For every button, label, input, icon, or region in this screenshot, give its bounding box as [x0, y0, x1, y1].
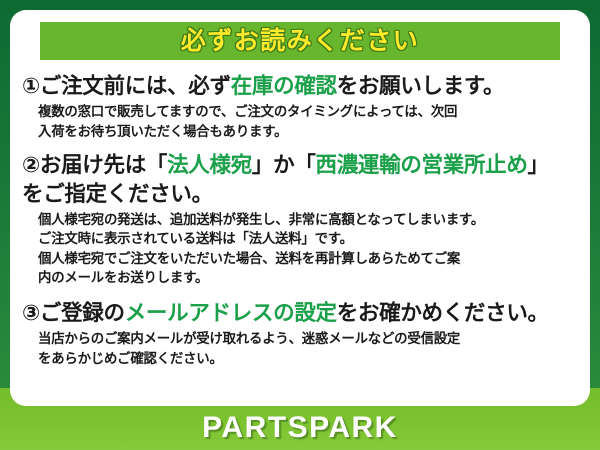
- notice-item-1-subline-0: 複数の窓口で販売してますので、ご注文のタイミングによっては、次回: [38, 102, 578, 121]
- notice-item-2-heading-highlight-2: 西濃運輸の営業所止め: [316, 153, 528, 177]
- notice-item-1-subline-1: 入荷をお待ち頂いただく場合もあります。: [38, 122, 578, 141]
- notice-item-3-subline-0: 当店からのご案内メールが受け取れるよう、迷惑メールなどの受信設定: [38, 329, 578, 348]
- notice-item-1-heading-part-2: をお願いします。: [337, 74, 504, 98]
- page-title: 必ずお読みください: [181, 29, 420, 54]
- notice-item-2-heading-part-0: お届け先は「: [40, 153, 167, 177]
- notice-item-3-heading-highlight: メールアドレスの設定: [125, 301, 337, 325]
- notice-item-1-subtext: 複数の窓口で販売してますので、ご注文のタイミングによっては、次回 入荷をお待ち頂…: [38, 102, 578, 141]
- notice-item-2-subline-2: 個人様宅宛でご注文をいただいた場合、送料を再計算しあらためてご案: [38, 249, 578, 268]
- notice-item-2: ②お届け先は「法人様宛」か「西濃運輸の営業所止め」をご指定ください。 個人様宅宛…: [22, 151, 578, 288]
- notice-item-1: ①ご注文前には、必ず在庫の確認をお願いします。 複数の窓口で販売してますので、ご…: [22, 72, 578, 141]
- notice-item-1-heading-part-0: ご注文前には、必ず: [40, 74, 231, 98]
- brand-logo: PARTSPARK: [202, 411, 398, 445]
- notice-card: 必ずお読みください ①ご注文前には、必ず在庫の確認をお願いします。 複数の窓口で…: [0, 0, 600, 450]
- header-banner: 必ずお読みください: [40, 22, 560, 60]
- notice-item-2-heading-highlight-1: 法人様宛: [167, 153, 252, 177]
- notice-item-2-subtext: 個人様宅宛の発送は、追加送料が発生し、非常に高額となってしまいます。 ご注文時に…: [38, 210, 578, 288]
- notice-item-3-heading: ③ご登録のメールアドレスの設定をお確かめください。: [22, 299, 578, 327]
- notice-item-3-subtext: 当店からのご案内メールが受け取れるよう、迷惑メールなどの受信設定 をあらかじめご…: [38, 329, 578, 368]
- notice-item-3-subline-1: をあらかじめご確認ください。: [38, 349, 578, 368]
- notice-item-1-marker: ①: [22, 74, 40, 98]
- notice-item-2-heading: ②お届け先は「法人様宛」か「西濃運輸の営業所止め」をご指定ください。: [22, 151, 578, 208]
- notice-item-3-marker: ③: [22, 301, 40, 325]
- notice-item-2-subline-3: 内のメールをお送りします。: [38, 268, 578, 287]
- notice-content: ①ご注文前には、必ず在庫の確認をお願いします。 複数の窓口で販売してますので、ご…: [10, 68, 590, 370]
- notice-item-2-subline-0: 個人様宅宛の発送は、追加送料が発生し、非常に高額となってしまいます。: [38, 210, 578, 229]
- notice-item-3-heading-part-0: ご登録の: [40, 301, 125, 325]
- notice-item-1-heading: ①ご注文前には、必ず在庫の確認をお願いします。: [22, 72, 578, 100]
- notice-item-2-marker: ②: [22, 153, 40, 177]
- notice-item-1-heading-highlight: 在庫の確認: [231, 74, 337, 98]
- notice-item-2-heading-part-4: 」: [528, 153, 549, 177]
- notice-item-2-subline-1: ご注文時に表示されている送料は「法人送料」です。: [38, 229, 578, 248]
- notice-item-3-heading-part-2: をお確かめください。: [337, 301, 549, 325]
- white-panel: 必ずお読みください ①ご注文前には、必ず在庫の確認をお願いします。 複数の窓口で…: [10, 10, 590, 406]
- notice-item-3: ③ご登録のメールアドレスの設定をお確かめください。 当店からのご案内メールが受け…: [22, 299, 578, 368]
- footer-logo-area: PARTSPARK: [0, 406, 600, 450]
- notice-item-2-heading-part-5: をご指定ください。: [22, 182, 213, 206]
- notice-item-2-heading-part-2: 」か「: [252, 153, 316, 177]
